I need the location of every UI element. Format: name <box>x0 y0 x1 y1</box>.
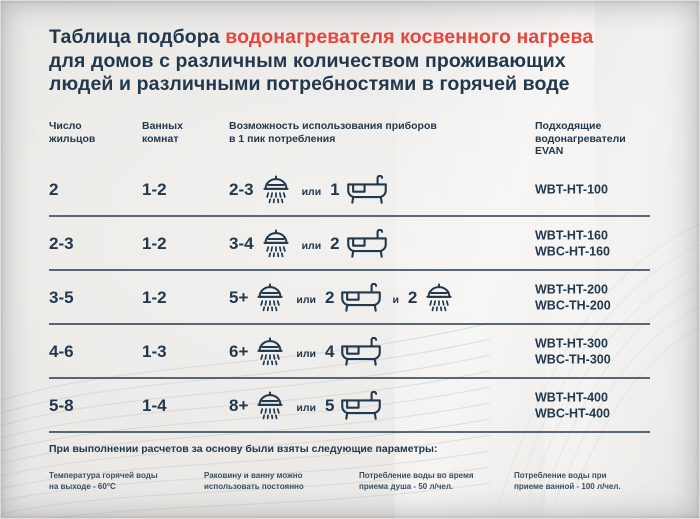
usage-conjunction: или <box>298 186 326 198</box>
usage-count: 2-3 <box>229 180 254 200</box>
model-code: WBC-HT-160 <box>535 244 610 260</box>
title-line3: людей и различными потребностями в горяч… <box>49 73 570 95</box>
footer-parameter-line1: Температура горячей воды <box>49 471 204 482</box>
shower-icon <box>259 227 293 261</box>
model-code: WBT-HT-300 <box>535 337 611 353</box>
cell-model-codes: WBT-HT-400WBC-HT-400 <box>535 391 610 422</box>
model-code: WBT-HT-200 <box>535 283 611 299</box>
usage-conjunction: или <box>292 348 320 360</box>
cell-people-count: 2-3 <box>49 234 74 254</box>
shower-icon <box>259 173 293 207</box>
bathtub-icon <box>345 229 389 260</box>
column-header-usage: Возможность использования приборов в 1 п… <box>229 120 519 145</box>
footer-parameter-item: Потребление воды во времяприема душа - 5… <box>359 471 514 492</box>
title-line2: для домов с различным количеством прожив… <box>49 50 566 72</box>
column-header-people-line1: Число <box>49 120 82 132</box>
cell-people-count: 4-6 <box>49 342 74 362</box>
usage-count: 8+ <box>229 396 248 416</box>
usage-count: 2 <box>325 288 334 308</box>
table-body: 21-22-3или1WBT-HT-1002-31-23-4или2WBT-HT… <box>0 163 700 433</box>
table-row: 5-81-48+или5WBT-HT-400WBC-HT-400 <box>0 379 700 433</box>
footer-parameter-line1: Потребление воды во время <box>359 471 514 482</box>
model-code: WBT-HT-160 <box>535 229 610 245</box>
cell-model-codes: WBT-HT-100 <box>535 182 608 198</box>
cell-model-codes: WBT-HT-200WBC-TH-200 <box>535 283 611 314</box>
row-separator <box>49 431 650 433</box>
table-row: 21-22-3или1WBT-HT-100 <box>0 163 700 217</box>
usage-count: 3-4 <box>229 234 254 254</box>
cell-bathroom-count: 1-4 <box>142 396 167 416</box>
column-header-people-line2: жильцов <box>49 133 95 145</box>
cell-bathroom-count: 1-3 <box>142 342 167 362</box>
footer-parameter-line1: Потребление воды при <box>514 471 659 482</box>
cell-bathroom-count: 1-2 <box>142 288 167 308</box>
cell-people-count: 3-5 <box>49 288 74 308</box>
page-title: Таблица подбора водонагревателя косвенно… <box>49 26 659 97</box>
column-header-usage-line1: Возможность использования приборов <box>229 120 437 132</box>
cell-usage: 2-3или1 <box>229 163 389 217</box>
column-header-models-line2: водонагреватели <box>535 133 626 145</box>
shower-icon <box>253 281 287 315</box>
cell-usage: 6+или4 <box>229 325 383 379</box>
usage-count: 1 <box>330 180 339 200</box>
cell-people-count: 2 <box>49 180 58 200</box>
model-code: WBC-HT-400 <box>535 406 610 422</box>
footer-note: При выполнении расчетов за основу были в… <box>49 443 649 455</box>
usage-conjunction: и <box>388 294 402 306</box>
footer-parameter-item: Раковину и ванну можноиспользовать посто… <box>204 471 359 492</box>
column-header-usage-line2: в 1 пик потребления <box>229 133 335 145</box>
cell-model-codes: WBT-HT-300WBC-TH-300 <box>535 337 611 368</box>
shower-icon <box>422 281 456 315</box>
model-code: WBC-TH-300 <box>535 352 611 368</box>
bathtub-icon <box>339 391 383 422</box>
usage-count: 2 <box>330 234 339 254</box>
cell-bathroom-count: 1-2 <box>142 180 167 200</box>
table-row: 2-31-23-4или2WBT-HT-160WBC-HT-160 <box>0 217 700 271</box>
footer-parameters: Температура горячей водына выходе - 60°С… <box>49 471 659 492</box>
usage-count: 4 <box>325 342 334 362</box>
table-header-row: Число жильцов Ванных комнат Возможность … <box>49 120 654 160</box>
model-code: WBT-HT-100 <box>535 182 608 198</box>
footer-parameter-line2: использовать постоянно <box>204 482 359 493</box>
shower-icon <box>253 335 287 369</box>
cell-usage: 8+или5 <box>229 379 383 433</box>
cell-bathroom-count: 1-2 <box>142 234 167 254</box>
footer-parameter-line2: приема душа - 50 л/чел. <box>359 482 514 493</box>
usage-conjunction: или <box>292 294 320 306</box>
footer-parameter-line2: приеме ванной - 100 л/чел. <box>514 482 659 493</box>
cell-usage: 3-4или2 <box>229 217 389 271</box>
cell-model-codes: WBT-HT-160WBC-HT-160 <box>535 229 610 260</box>
column-header-models: Подходящие водонагреватели EVAN <box>535 120 685 158</box>
footer-parameter-line1: Раковину и ванну можно <box>204 471 359 482</box>
footer-parameter-item: Потребление воды приприеме ванной - 100 … <box>514 471 659 492</box>
usage-count: 6+ <box>229 342 248 362</box>
column-header-models-line1: Подходящие <box>535 120 601 132</box>
usage-conjunction: или <box>292 402 320 414</box>
column-header-bathrooms-line1: Ванных <box>142 120 183 132</box>
bathtub-icon <box>339 283 383 314</box>
column-header-people: Число жильцов <box>49 120 129 145</box>
bathtub-icon <box>339 337 383 368</box>
column-header-bathrooms: Ванных комнат <box>142 120 222 145</box>
usage-count: 5 <box>325 396 334 416</box>
usage-conjunction: или <box>298 240 326 252</box>
table-row: 4-61-36+или4WBT-HT-300WBC-TH-300 <box>0 325 700 379</box>
model-code: WBC-TH-200 <box>535 298 611 314</box>
model-code: WBT-HT-400 <box>535 391 610 407</box>
usage-count: 2 <box>408 288 417 308</box>
usage-count: 5+ <box>229 288 248 308</box>
cell-usage: 5+или2и2 <box>229 271 456 325</box>
shower-icon <box>253 389 287 423</box>
title-line1-accent: водонагревателя косвенного нагрева <box>225 26 593 48</box>
column-header-bathrooms-line2: комнат <box>142 133 178 145</box>
footer-parameter-item: Температура горячей водына выходе - 60°С <box>49 471 204 492</box>
footer-parameter-line2: на выходе - 60°С <box>49 482 204 493</box>
bathtub-icon <box>345 175 389 206</box>
column-header-models-line3: EVAN <box>535 145 563 157</box>
title-line1-prefix: Таблица подбора <box>49 26 225 48</box>
infographic-poster: Таблица подбора водонагревателя косвенно… <box>0 0 700 519</box>
cell-people-count: 5-8 <box>49 396 74 416</box>
table-row: 3-51-25+или2и2WBT-HT-200WBC-TH-200 <box>0 271 700 325</box>
